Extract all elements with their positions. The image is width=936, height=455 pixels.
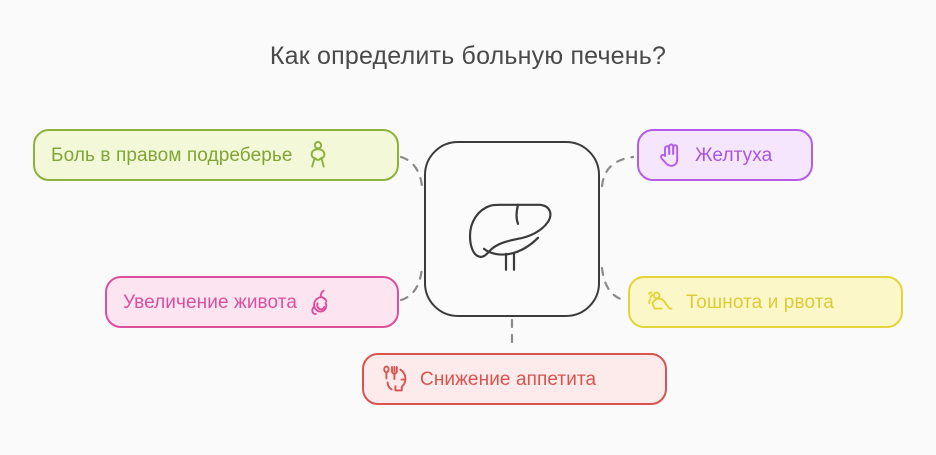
connector-pain: [401, 157, 422, 186]
stomach-icon: [307, 287, 337, 317]
central-liver-node: [424, 141, 600, 317]
symptom-card-jaundice[interactable]: Желтуха: [637, 129, 813, 181]
connector-jaundice: [602, 157, 633, 186]
person-holding-side-icon: [303, 140, 333, 170]
symptom-label-belly: Увеличение живота: [123, 293, 297, 312]
symptom-card-pain[interactable]: Боль в правом подреберье: [33, 129, 399, 181]
connector-nausea: [602, 268, 624, 300]
symptom-label-appetite: Снижение аппетита: [420, 370, 596, 389]
symptom-label-jaundice: Желтуха: [695, 146, 772, 165]
diagram-canvas: Как определить больную печень? Боль в пр…: [0, 0, 936, 455]
symptom-card-belly[interactable]: Увеличение живота: [105, 276, 399, 328]
symptom-label-pain: Боль в правом подреберье: [51, 146, 293, 165]
vomiting-person-icon: [646, 287, 676, 317]
liver-icon: [460, 186, 564, 276]
hand-palm-icon: [655, 140, 685, 170]
page-title: Как определить больную печень?: [0, 42, 936, 71]
symptom-label-nausea: Тошнота и рвота: [686, 293, 834, 312]
connector-belly: [401, 268, 422, 300]
symptom-card-nausea[interactable]: Тошнота и рвота: [628, 276, 903, 328]
symptom-card-appetite[interactable]: Снижение аппетита: [362, 353, 667, 405]
fork-spoon-head-icon: [380, 364, 410, 394]
